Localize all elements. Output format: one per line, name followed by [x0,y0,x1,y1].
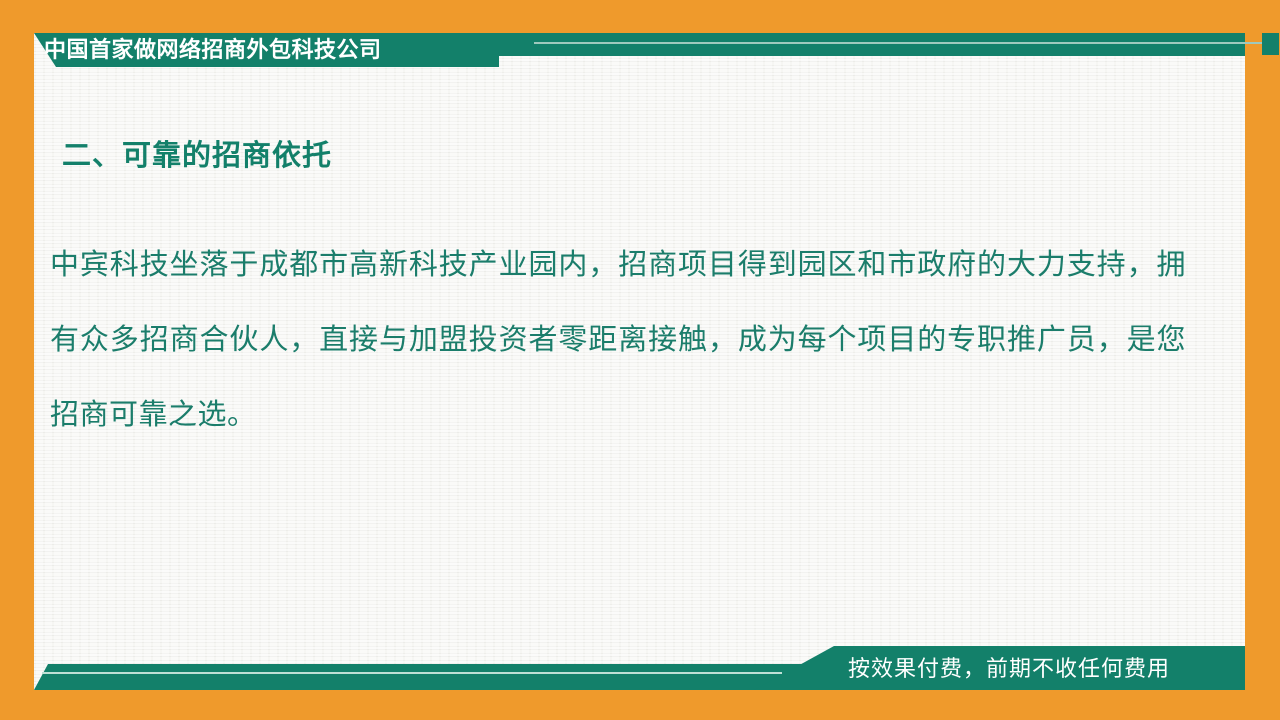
section-heading: 二、可靠的招商依托 [62,132,332,174]
footer-hairline-rule [42,672,782,674]
frame-right-orange [1245,0,1280,720]
body-paragraph: 中宾科技坐落于成都市高新科技产业园内，招商项目得到园区和市政府的大力支持，拥有众… [50,228,1186,453]
frame-left-orange [0,0,34,720]
header-hairline-rule [534,42,1279,44]
footer-tagline: 按效果付费，前期不收任何费用 [848,646,1170,690]
slide-canvas: 中国首家做网络招商外包科技公司 二、可靠的招商依托 中宾科技坐落于成都市高新科技… [0,0,1280,720]
header-band-stripe [496,33,1245,56]
frame-bottom-orange [0,690,1280,720]
frame-top-orange [0,0,1280,33]
header-title: 中国首家做网络招商外包科技公司 [44,33,382,67]
